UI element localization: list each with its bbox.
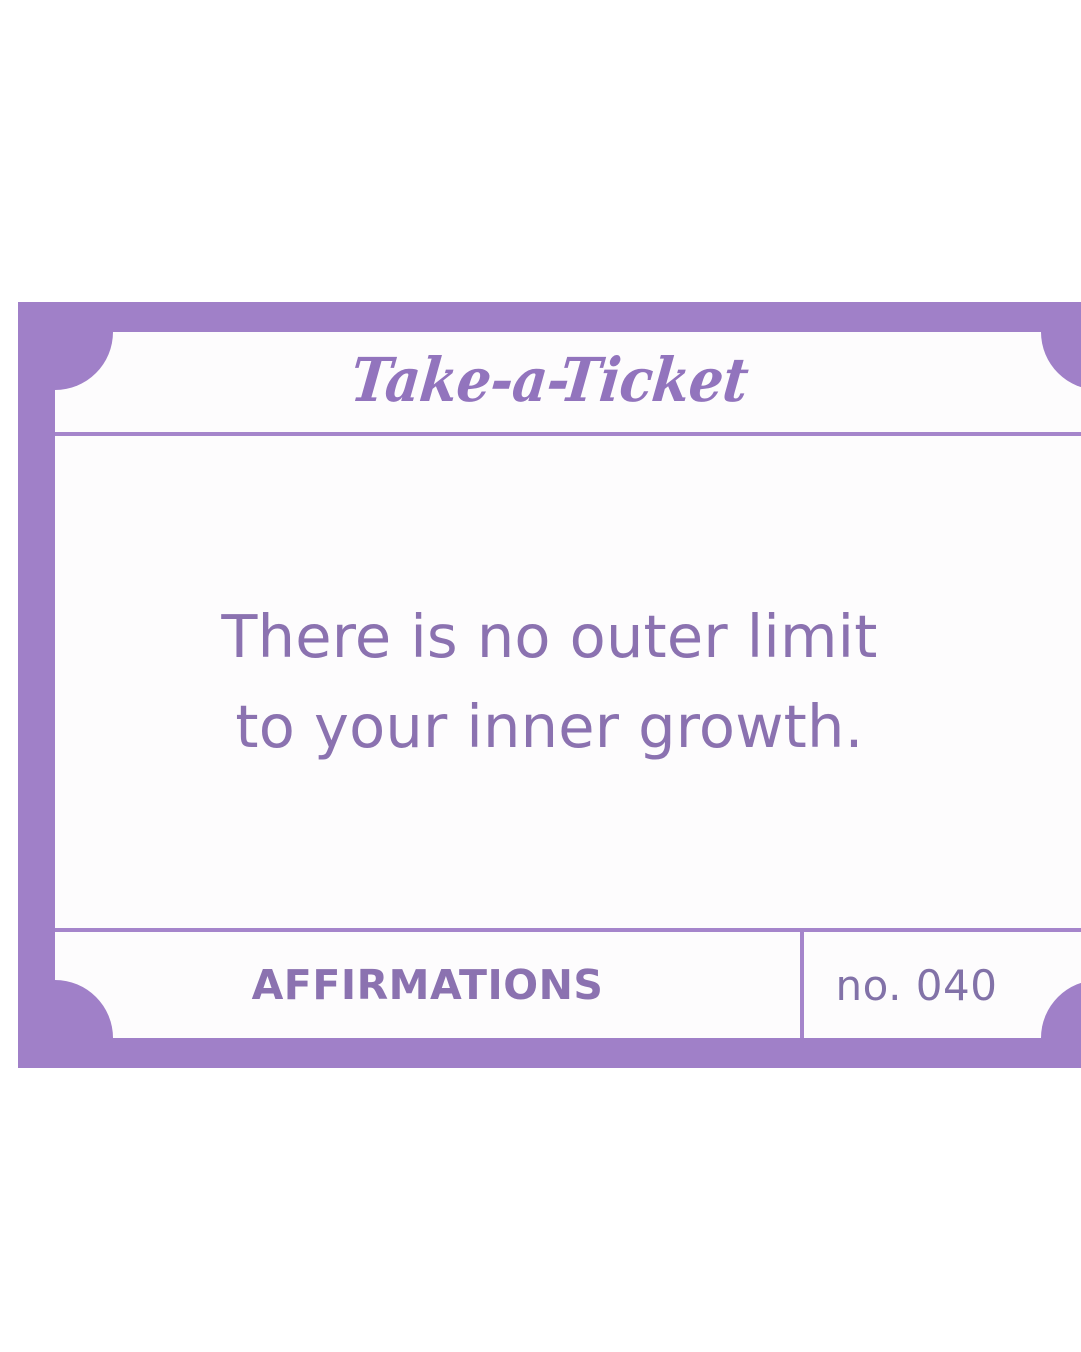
- affirmation-line-1: There is no outer limit: [221, 592, 877, 682]
- ticket-header: Take-a-Ticket: [55, 332, 1081, 432]
- affirmation-text: There is no outer limit to your inner gr…: [221, 592, 877, 771]
- brand-title: Take-a-Ticket: [348, 350, 751, 415]
- ticket-number-label: no. 040: [836, 961, 998, 1010]
- footer-number-cell: no. 040: [804, 932, 1081, 1038]
- ticket-paper: Take-a-Ticket There is no outer limit to…: [55, 332, 1081, 1038]
- category-label: AFFIRMATIONS: [252, 961, 604, 1009]
- ticket-footer: AFFIRMATIONS no. 040: [55, 932, 1081, 1038]
- affirmation-ticket[interactable]: Take-a-Ticket There is no outer limit to…: [18, 302, 1081, 1068]
- footer-category-cell: AFFIRMATIONS: [55, 932, 800, 1038]
- affirmation-line-2: to your inner growth.: [221, 682, 877, 772]
- ticket-body: There is no outer limit to your inner gr…: [55, 436, 1081, 928]
- canvas: Take-a-Ticket There is no outer limit to…: [0, 0, 1081, 1352]
